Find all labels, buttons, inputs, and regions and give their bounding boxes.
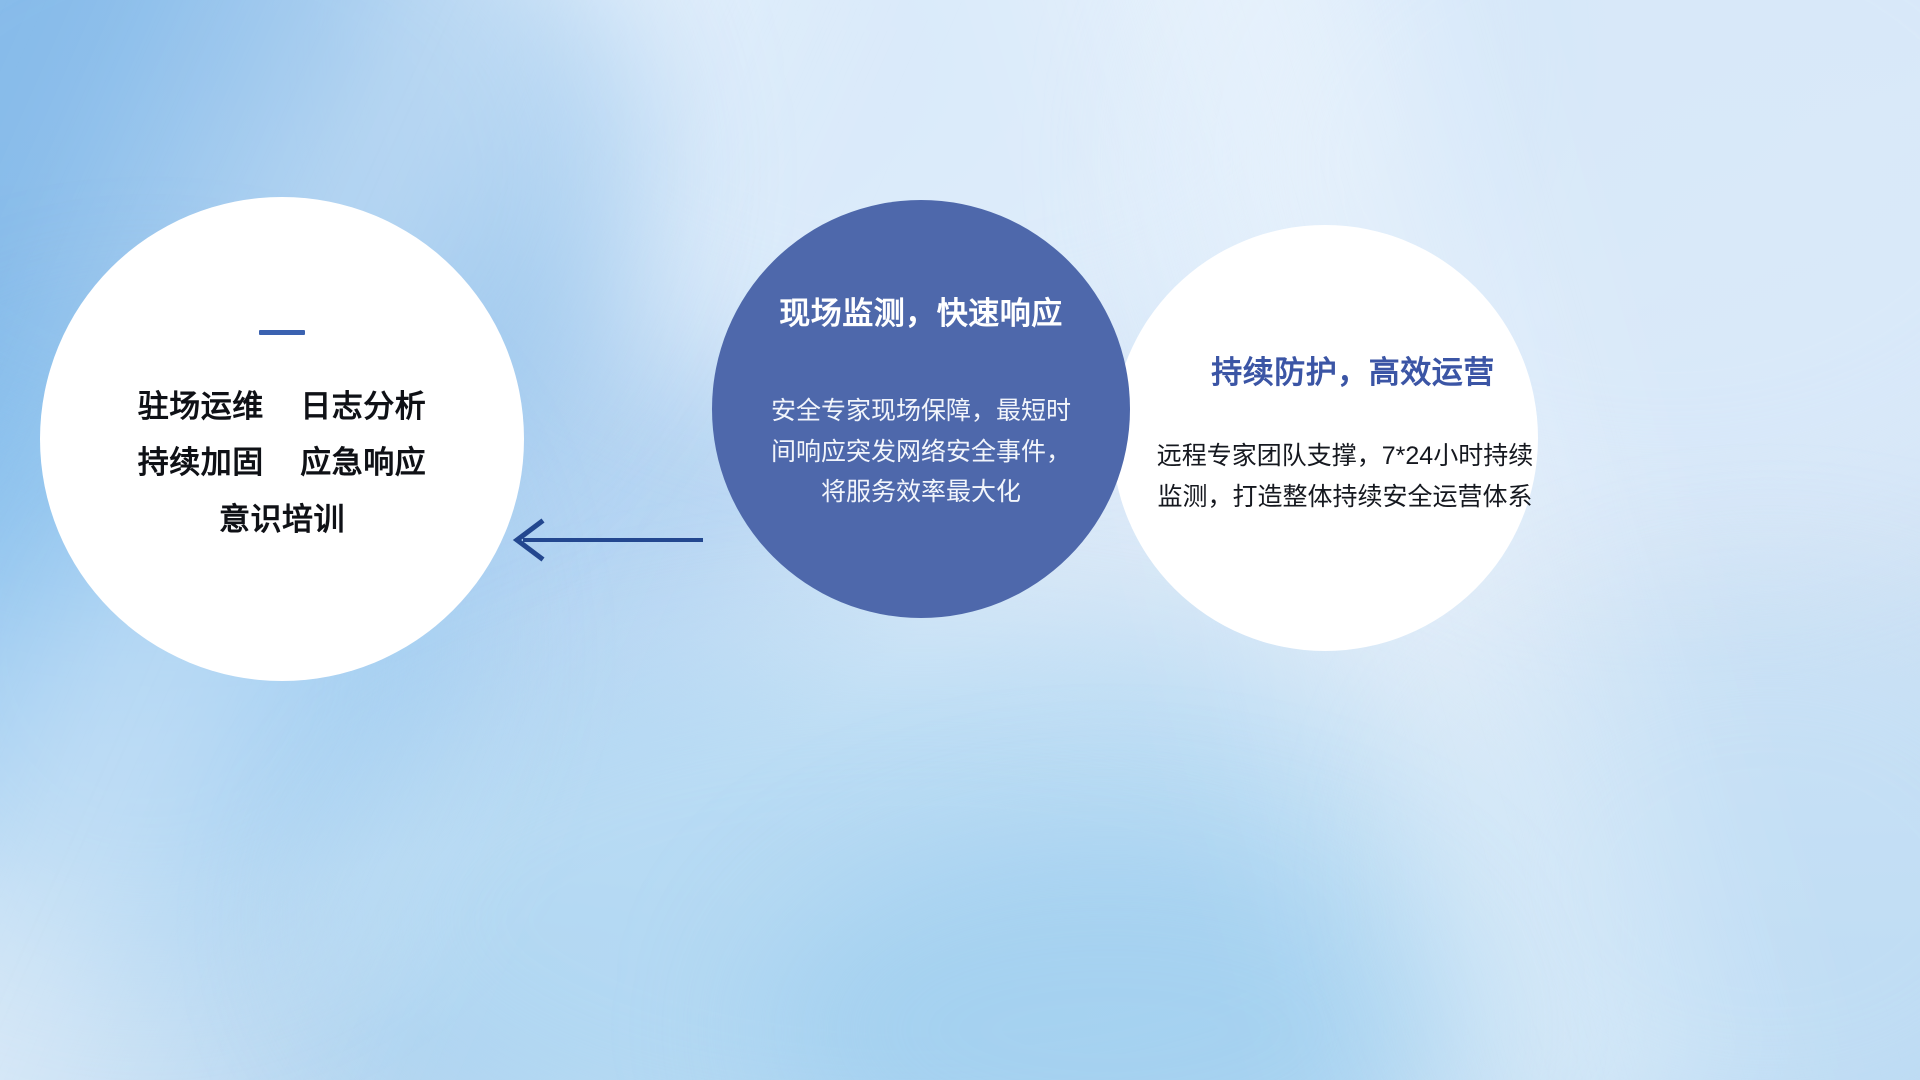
diagram-stage: 驻场运维 日志分析 持续加固 应急响应 意识培训 现场监测，快速响应 安全专家现… (0, 0, 1920, 1080)
flow-arrow (495, 516, 705, 569)
capability-line-3: 意识培训 (138, 492, 426, 548)
left-circle-divider (259, 330, 305, 335)
middle-circle-title: 现场监测，快速响应 (779, 288, 1063, 333)
middle-circle-body: 安全专家现场保障，最短时间响应突发网络安全事件，将服务效率最大化 (770, 391, 1072, 513)
right-circle-body: 远程专家团队支撑，7*24小时持续监测，打造整体持续安全运营体系 (1149, 436, 1541, 517)
left-circle-content: 驻场运维 日志分析 持续加固 应急响应 意识培训 (40, 197, 524, 681)
left-circle-capability-list: 驻场运维 日志分析 持续加固 应急响应 意识培训 (138, 379, 426, 548)
capability-line-2: 持续加固 应急响应 (138, 435, 426, 491)
right-circle-title: 持续防护，高效运营 (1211, 347, 1495, 392)
middle-circle-content: 现场监测，快速响应 安全专家现场保障，最短时间响应突发网络安全事件，将服务效率最… (712, 200, 1130, 618)
right-circle-content: 持续防护，高效运营 远程专家团队支撑，7*24小时持续监测，打造整体持续安全运营… (1112, 225, 1538, 651)
capability-line-1: 驻场运维 日志分析 (138, 379, 426, 435)
